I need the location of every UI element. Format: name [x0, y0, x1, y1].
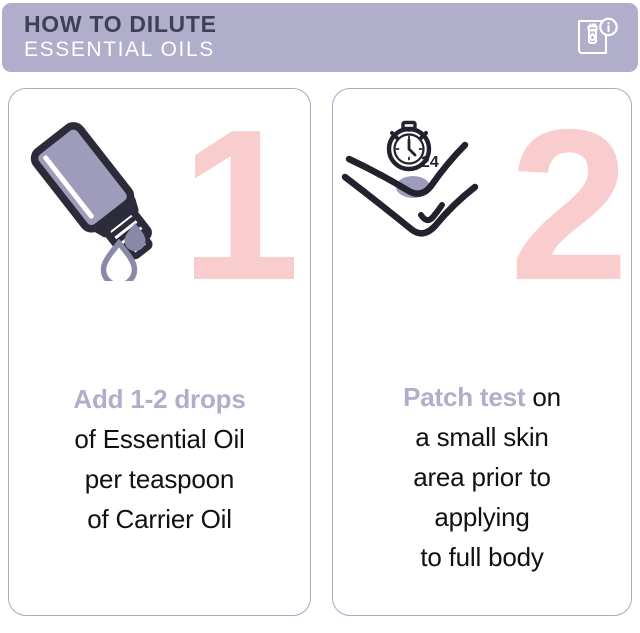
step-number-1: 1 — [180, 97, 296, 312]
step-card-1: 1 Add 1-2 drops of Essential — [8, 88, 311, 616]
oil-bottle-info-book-icon — [573, 14, 621, 62]
caption-accent-trailing-2: on — [525, 382, 561, 412]
stopwatch-icon: 24 — [389, 123, 439, 172]
header-title-group: HOW TO DILUTE ESSENTIAL OILS — [24, 11, 217, 63]
elbow-patch-test-stopwatch-icon: 24 — [339, 111, 519, 261]
step-number-2: 2 — [509, 97, 625, 312]
step-caption-2: Patch test on a small skin area prior to… — [333, 377, 631, 577]
caption-accent-2: Patch test — [403, 382, 525, 412]
caption-line-2-2: area prior to — [341, 457, 623, 497]
caption-accent-line-2: Patch test on — [341, 377, 623, 417]
caption-line-2-4: to full body — [341, 537, 623, 577]
stopwatch-label: 24 — [421, 154, 439, 171]
caption-line-2-1: a small skin — [341, 417, 623, 457]
caption-line-2-3: applying — [341, 497, 623, 537]
tilted-dropper-bottle-with-drops-icon — [23, 111, 183, 281]
header-banner: HOW TO DILUTE ESSENTIAL OILS — [2, 3, 638, 72]
page-subtitle: ESSENTIAL OILS — [24, 37, 217, 63]
caption-line-1-2: per teaspoon — [17, 459, 302, 499]
page-title: HOW TO DILUTE — [24, 11, 217, 37]
caption-accent-1: Add 1-2 drops — [17, 379, 302, 419]
caption-line-1-3: of Carrier Oil — [17, 499, 302, 539]
step-card-2: 2 — [332, 88, 632, 616]
step-caption-1: Add 1-2 drops of Essential Oil per teasp… — [9, 379, 310, 539]
caption-line-1-1: of Essential Oil — [17, 419, 302, 459]
